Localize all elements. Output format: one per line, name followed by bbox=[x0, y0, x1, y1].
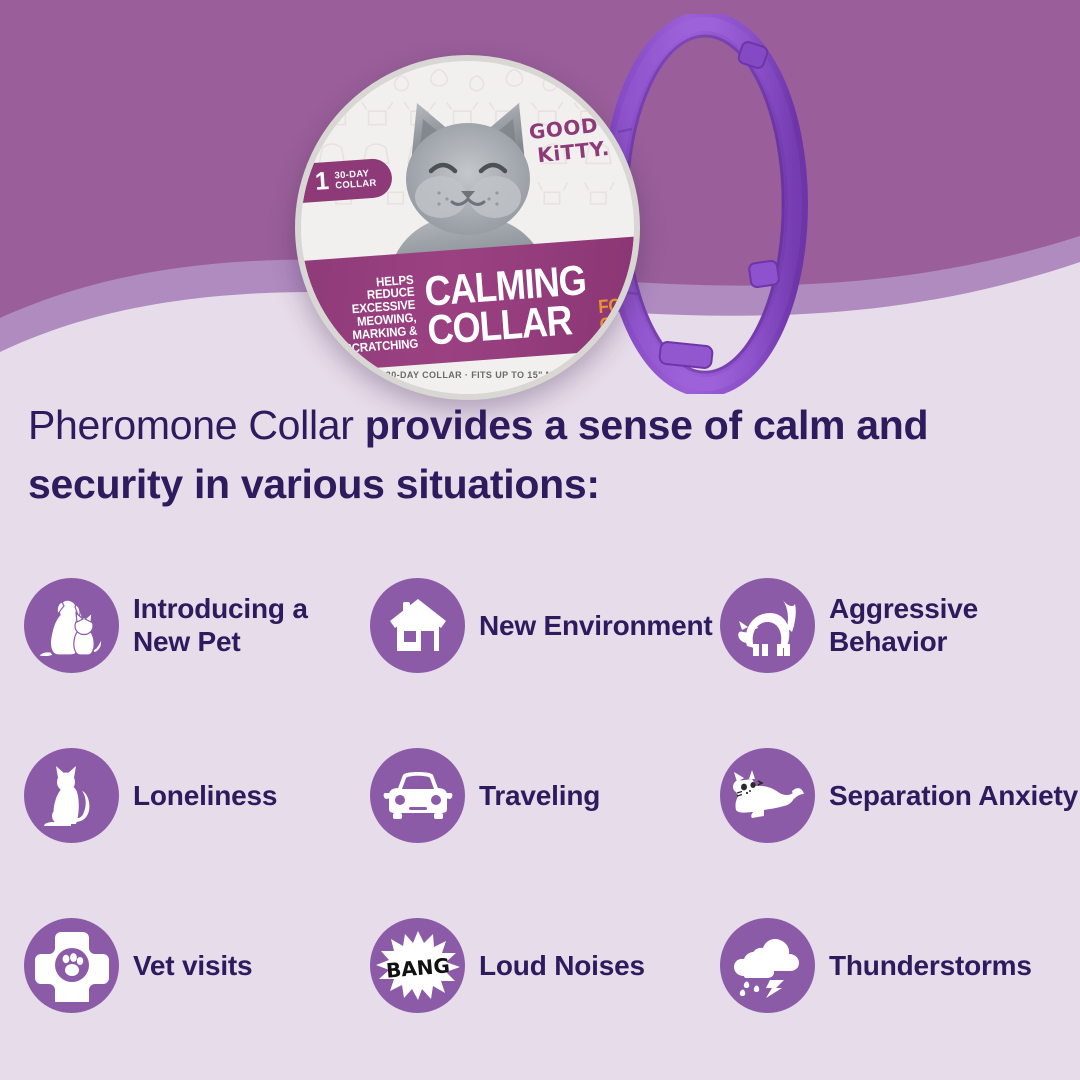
tin-band-text: HELPS REDUCE EXCESSIVE MEOWING, MARKING … bbox=[330, 247, 627, 368]
benefit-item-thunderstorms: Thunderstorms bbox=[720, 918, 1080, 1013]
medical-cross-paw-icon bbox=[24, 918, 119, 1013]
benefit-item-traveling: Traveling bbox=[370, 748, 720, 843]
storm-cloud-icon bbox=[720, 918, 815, 1013]
benefit-item-new-environment: New Environment bbox=[370, 578, 720, 673]
headline-light-part: Pheromone Collar bbox=[28, 402, 365, 448]
benefit-item-vet-visits: Vet visits bbox=[0, 918, 370, 1013]
benefits-row: Introducing a New Pet bbox=[0, 540, 1080, 710]
benefit-item-aggressive-behavior: Aggressive Behavior bbox=[720, 578, 1080, 673]
product-hero: HELPS REDUCE EXCESSIVE MEOWING, MARKING … bbox=[0, 0, 1080, 400]
thirty-day-badge: 1 30-DAY COLLAR bbox=[301, 158, 394, 204]
lying-sad-cat-icon bbox=[720, 748, 815, 843]
benefits-row: Loneliness bbox=[0, 710, 1080, 880]
benefit-label: Vet visits bbox=[133, 949, 252, 982]
sitting-cat-icon bbox=[24, 748, 119, 843]
benefit-item-separation-anxiety: Separation Anxiety bbox=[720, 748, 1080, 843]
benefit-item-loud-noises: BANG Loud Noises bbox=[370, 918, 720, 1013]
benefit-item-loneliness: Loneliness bbox=[0, 748, 370, 843]
helps-reduce-text: HELPS REDUCE EXCESSIVE MEOWING, MARKING … bbox=[334, 273, 419, 355]
benefit-label: Introducing a New Pet bbox=[133, 592, 370, 658]
badge-description: 30-DAY COLLAR bbox=[334, 168, 377, 191]
product-tin: HELPS REDUCE EXCESSIVE MEOWING, MARKING … bbox=[295, 55, 640, 400]
house-icon bbox=[370, 578, 465, 673]
benefits-row: Vet visits BANG Loud Noises bbox=[0, 880, 1080, 1050]
tin-footer-text: ONE 30-DAY COLLAR · FITS UP TO 15" NECK bbox=[301, 370, 634, 380]
benefit-label: Separation Anxiety bbox=[829, 779, 1078, 812]
benefit-label: Thunderstorms bbox=[829, 949, 1032, 982]
infographic-canvas: HELPS REDUCE EXCESSIVE MEOWING, MARKING … bbox=[0, 0, 1080, 1080]
badge-count: 1 bbox=[314, 169, 330, 195]
bang-burst-icon: BANG bbox=[370, 918, 465, 1013]
benefit-label: New Environment bbox=[479, 609, 712, 642]
benefits-grid: Introducing a New Pet bbox=[0, 540, 1080, 1050]
car-icon bbox=[370, 748, 465, 843]
benefit-item-introducing-new-pet: Introducing a New Pet bbox=[0, 578, 370, 673]
benefit-label: Aggressive Behavior bbox=[829, 592, 1080, 658]
arched-cat-icon bbox=[720, 578, 815, 673]
benefit-label: Loud Noises bbox=[479, 949, 645, 982]
good-kitty-handwriting: GOOD KiTTY. bbox=[527, 112, 610, 168]
page-title: Pheromone Collar provides a sense of cal… bbox=[28, 396, 1028, 514]
benefit-label: Loneliness bbox=[133, 779, 277, 812]
dog-and-cat-icon bbox=[24, 578, 119, 673]
for-cats-text: FOR CATS bbox=[598, 296, 634, 335]
benefit-label: Traveling bbox=[479, 779, 600, 812]
collar-word: COLLAR bbox=[426, 300, 573, 349]
